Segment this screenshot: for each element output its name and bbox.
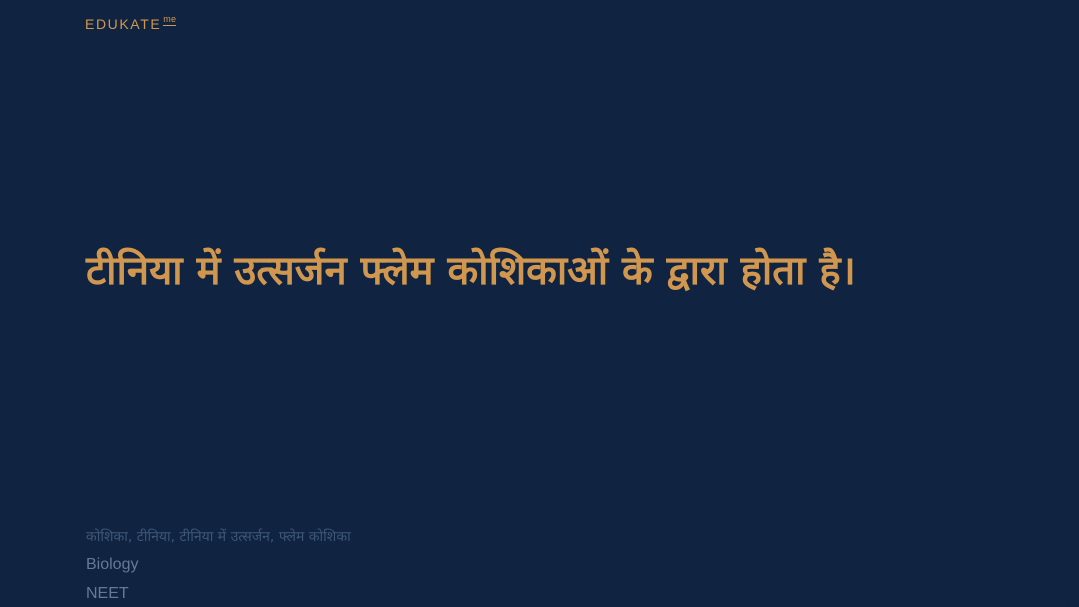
corner-watermark: . . . . bbox=[1050, 594, 1073, 603]
slide-headline: टीनिया में उत्सर्जन फ्लेम कोशिकाओं के द्… bbox=[86, 241, 976, 302]
slide-canvas: EDUKATE me टीनिया में उत्सर्जन फ्लेम कोश… bbox=[0, 0, 1079, 607]
meta-exam: NEET bbox=[86, 586, 686, 607]
meta-subject: Biology bbox=[86, 557, 686, 573]
meta-tags: कोशिका, टीनिया, टीनिया में उत्सर्जन, फ्ल… bbox=[86, 530, 686, 544]
brand-logo-superscript: me bbox=[163, 15, 176, 26]
brand-logo[interactable]: EDUKATE me bbox=[85, 17, 176, 31]
brand-logo-word: EDUKATE bbox=[85, 17, 161, 31]
slide-meta: कोशिका, टीनिया, टीनिया में उत्सर्जन, फ्ल… bbox=[86, 530, 686, 607]
